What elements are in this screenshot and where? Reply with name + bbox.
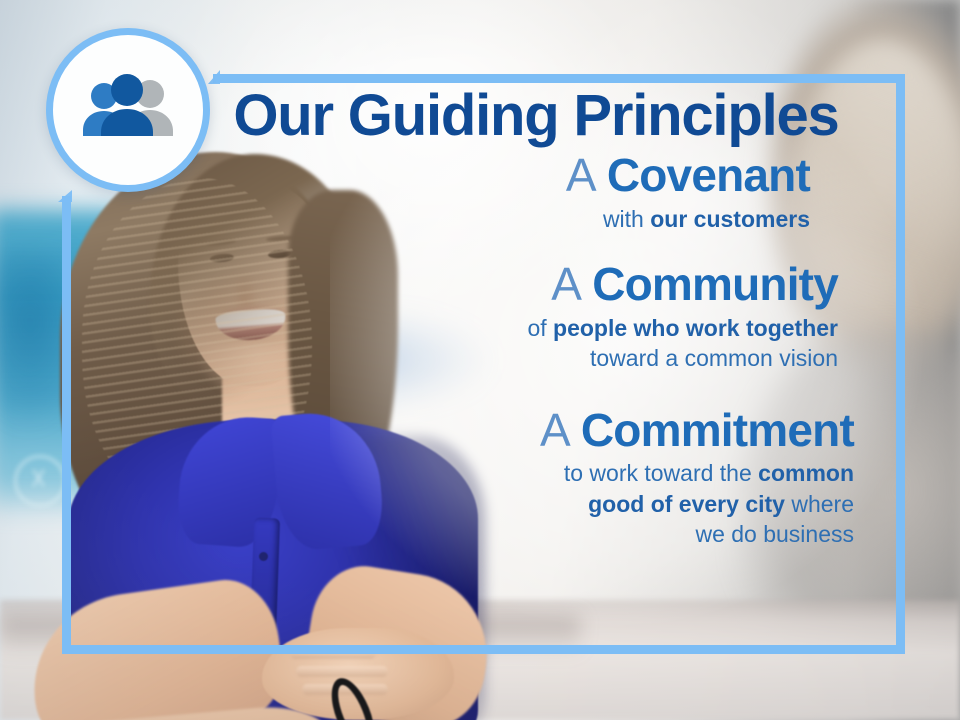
principle-headline-2: A Community <box>200 260 838 309</box>
principle-body-1: with our customers <box>200 204 810 234</box>
principle-3-body-line-2: good of every city where <box>200 489 854 519</box>
principle-covenant: A Covenant with our customers <box>200 151 810 234</box>
principle-1-body-line-1: with our customers <box>200 204 810 234</box>
principle-article-1: A <box>566 149 594 201</box>
principle-headline-3: A Commitment <box>200 406 854 455</box>
principle-keyword-3: Commitment <box>581 404 854 456</box>
principle-commitment: A Commitment to work toward the commongo… <box>200 406 854 550</box>
plain-text: we do business <box>695 521 854 547</box>
plain-text: with <box>603 206 650 232</box>
guiding-principles-graphic: FLOW FLOW AUTOMOTIVE <box>0 0 960 720</box>
principle-3-body-line-3: we do business <box>200 519 854 549</box>
emphasis-text: our customers <box>650 206 810 232</box>
plain-text: to work toward the <box>564 460 758 486</box>
principle-2-body-line-1: of people who work together <box>200 313 838 343</box>
people-group-icon <box>53 35 203 185</box>
principle-community: A Community of people who work togethert… <box>200 260 838 373</box>
principle-2-body-line-2: toward a common vision <box>200 343 838 373</box>
page-title: Our Guiding Principles <box>200 86 872 145</box>
principle-headline-1: A Covenant <box>200 151 810 200</box>
principle-keyword-2: Community <box>592 258 838 310</box>
subject-finger-2 <box>296 666 388 677</box>
plain-text: toward a common vision <box>590 345 838 371</box>
subject-arm-left <box>22 573 292 720</box>
principle-3-body-line-1: to work toward the common <box>200 458 854 488</box>
principle-keyword-1: Covenant <box>607 149 810 201</box>
principle-body-3: to work toward the commongood of every c… <box>200 458 854 549</box>
plain-text: of <box>527 315 553 341</box>
subject-shirt-button <box>259 552 268 561</box>
principle-body-2: of people who work togethertoward a comm… <box>200 313 838 374</box>
emphasis-text: common <box>758 460 854 486</box>
subject-finger-1 <box>290 648 376 659</box>
emphasis-text: good of every city <box>588 491 785 517</box>
people-badge <box>46 28 210 192</box>
plain-text: where <box>785 491 854 517</box>
emphasis-text: people who work together <box>553 315 838 341</box>
principles-copy: Our Guiding Principles A Covenant with o… <box>200 86 872 550</box>
principle-article-2: A <box>551 258 579 310</box>
principle-article-3: A <box>540 404 568 456</box>
